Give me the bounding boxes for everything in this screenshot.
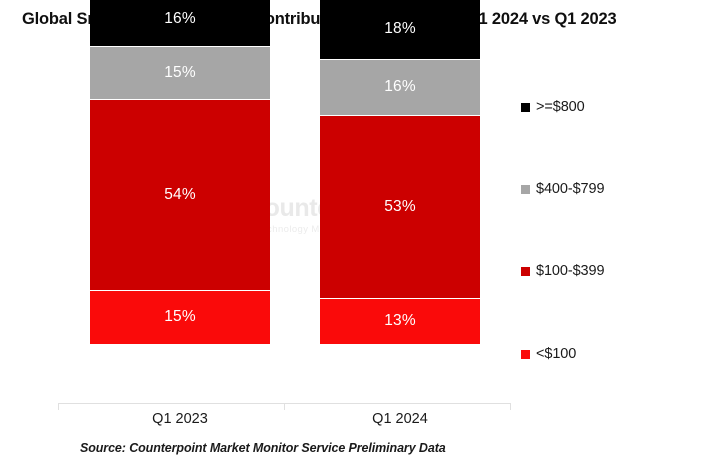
legend-item-under-100[interactable]: <$100: [521, 346, 576, 362]
legend-label: <$100: [536, 346, 576, 362]
bar-segment-label: 54%: [164, 186, 196, 204]
bar-stack-q1-2023[interactable]: 16% 15% 54% 15%: [90, 0, 270, 344]
bar-segment-label: 53%: [384, 198, 416, 216]
legend-swatch-icon: [521, 103, 530, 112]
bar-segment-label: 15%: [164, 64, 196, 82]
legend-label: $100-$399: [536, 263, 604, 279]
bar-segment-400-799[interactable]: 15%: [90, 47, 270, 100]
bar-segment-800-plus[interactable]: 18%: [320, 0, 480, 60]
bar-segment-label: 18%: [384, 20, 416, 38]
source-note: Source: Counterpoint Market Monitor Serv…: [80, 441, 446, 455]
bar-segment-label: 16%: [164, 10, 196, 28]
legend-label: $400-$799: [536, 181, 604, 197]
legend-item-400-799[interactable]: $400-$799: [521, 181, 604, 197]
x-axis-tick: [58, 403, 59, 410]
bar-segment-label: 15%: [164, 308, 196, 326]
bar-segment-400-799[interactable]: 16%: [320, 60, 480, 115]
bar-segment-under-100[interactable]: 15%: [90, 291, 270, 344]
bar-segment-label: 16%: [384, 78, 416, 96]
chart-legend: >=$800 $400-$799 $100-$399 <$100: [521, 0, 706, 410]
x-axis-label-q1-2023: Q1 2023: [90, 411, 270, 427]
legend-swatch-icon: [521, 350, 530, 359]
x-axis-tick: [510, 403, 511, 410]
legend-label: >=$800: [536, 99, 585, 115]
bar-segment-label: 13%: [384, 312, 416, 330]
legend-swatch-icon: [521, 185, 530, 194]
plot-area: Counterpoint Technology Market Research …: [0, 0, 520, 410]
bar-segment-under-100[interactable]: 13%: [320, 299, 480, 344]
chart-container: Global Smartphone Shipment Contribution …: [0, 0, 706, 469]
legend-swatch-icon: [521, 267, 530, 276]
bar-segment-100-399[interactable]: 53%: [320, 116, 480, 299]
bar-segment-800-plus[interactable]: 16%: [90, 0, 270, 47]
x-axis-tick: [284, 403, 285, 410]
legend-item-100-399[interactable]: $100-$399: [521, 263, 604, 279]
x-axis-label-q1-2024: Q1 2024: [320, 411, 480, 427]
legend-item-800-plus[interactable]: >=$800: [521, 99, 585, 115]
bar-stack-q1-2024[interactable]: 18% 16% 53% 13%: [320, 0, 480, 344]
bar-segment-100-399[interactable]: 54%: [90, 100, 270, 291]
